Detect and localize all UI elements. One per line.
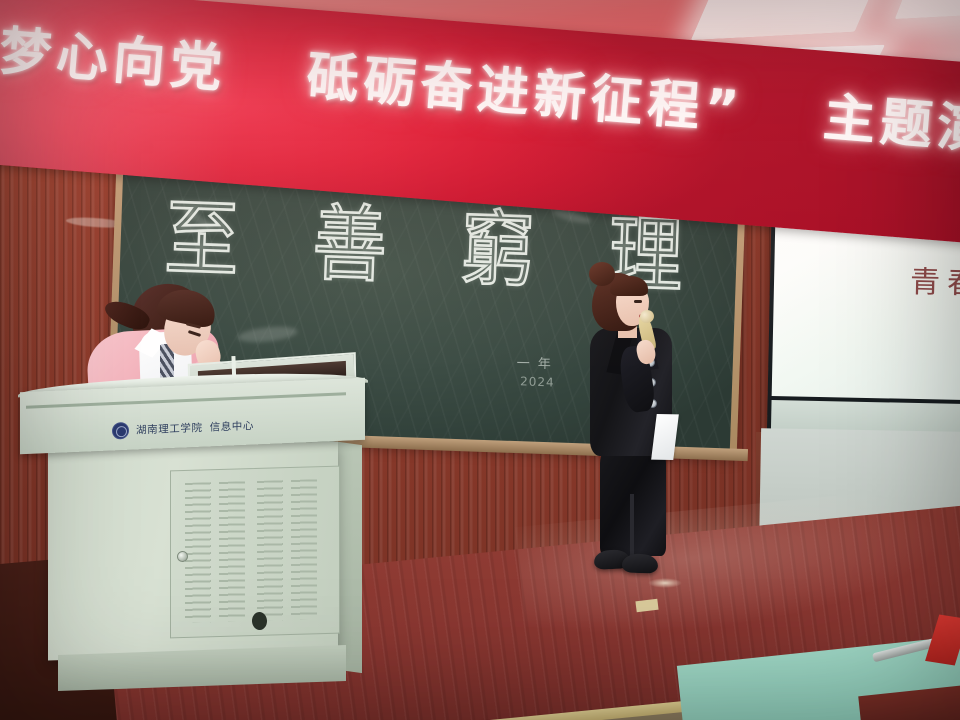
leg-separation <box>630 494 634 556</box>
eye <box>634 300 642 303</box>
vent-slots <box>257 480 283 621</box>
banner-text-part3: 主题演讲比赛 <box>821 88 960 175</box>
podium-plate-org: 湖南理工学院 <box>136 420 203 438</box>
hair-bun <box>589 262 615 286</box>
projector-screen-text: 青春 <box>910 257 960 303</box>
speech-notes-paper <box>651 414 679 460</box>
hair-bangs <box>610 276 648 296</box>
vent-slots <box>185 482 211 623</box>
banner-text-part2: 砥砺奋进新征程” <box>304 46 746 141</box>
vent-slots <box>291 479 317 620</box>
banner-text-part1: 逐梦心向党 <box>0 17 229 100</box>
shoe-right <box>622 553 659 573</box>
podium-plate-dept: 信息中心 <box>210 418 254 435</box>
banner-spacer <box>248 89 282 92</box>
ceiling-panel-light <box>895 0 960 19</box>
photo-scene: 至善窮理 一 年 2024 青春 <box>0 0 960 720</box>
vent-slots <box>219 481 245 622</box>
banner-spacer <box>765 130 799 133</box>
speaker-with-microphone <box>578 262 688 592</box>
ceiling-panel-light <box>691 0 877 40</box>
chalkboard-note-line1: 一 年 <box>517 352 553 372</box>
university-logo-icon <box>112 421 129 439</box>
chalkboard-note-line2: 2024 <box>520 374 555 389</box>
